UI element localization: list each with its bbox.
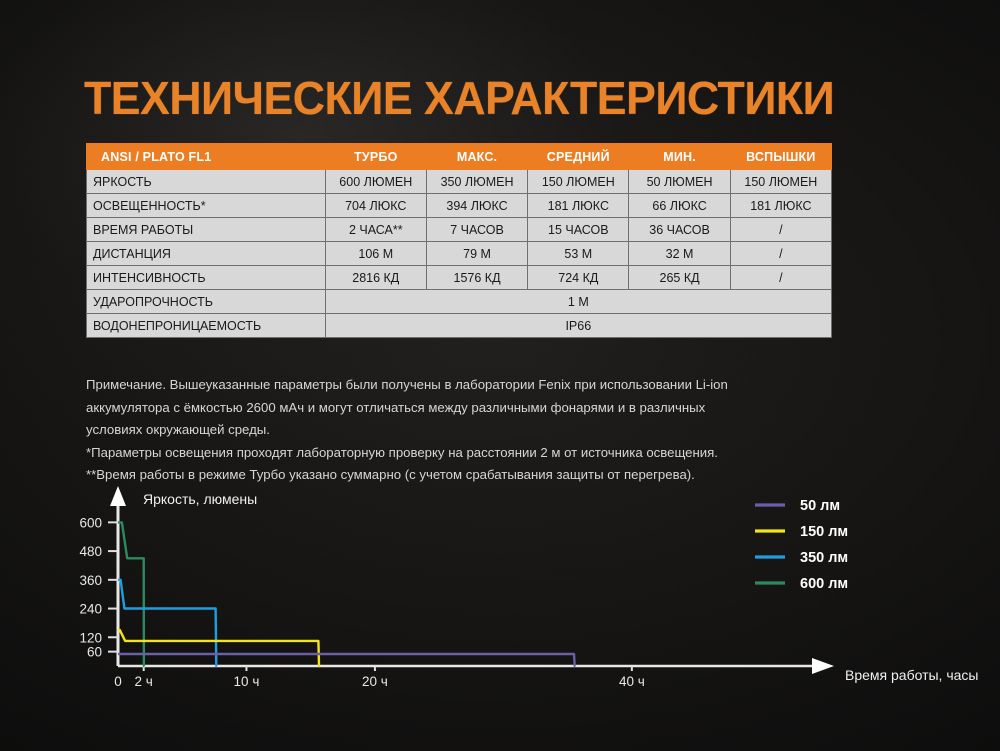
table-row: ДИСТАНЦИЯ106 М79 М53 М32 М/	[87, 242, 832, 266]
table-row-label: ИНТЕНСИВНОСТЬ	[87, 266, 326, 290]
table-cell: 265 КД	[629, 266, 730, 290]
x-axis-tick-label: 0	[114, 674, 122, 689]
y-axis-title: Яркость, люмены	[143, 491, 257, 507]
table-cell: 600 ЛЮМЕН	[325, 170, 426, 194]
table-row-label: ВРЕМЯ РАБОТЫ	[87, 218, 326, 242]
table-row-label: ЯРКОСТЬ	[87, 170, 326, 194]
legend-label: 50 лм	[800, 498, 840, 514]
y-axis-tick-label: 480	[79, 544, 102, 559]
table-cell: 36 ЧАСОВ	[629, 218, 730, 242]
y-axis-ticks: 60120240360480600	[79, 515, 118, 659]
legend-label: 150 лм	[800, 524, 848, 540]
table-header-cell: ВСПЫШКИ	[730, 144, 831, 170]
x-axis-tick-label: 20 ч	[362, 674, 388, 689]
table-row-merged: УДАРОПРОЧНОСТЬ1 М	[87, 290, 832, 314]
table-cell: 50 ЛЮМЕН	[629, 170, 730, 194]
table-header-row: ANSI / PLATO FL1ТУРБОМАКС.СРЕДНИЙМИН.ВСП…	[87, 144, 832, 170]
table-header-cell: МАКС.	[426, 144, 527, 170]
table-cell: 7 ЧАСОВ	[426, 218, 527, 242]
table-cell: 394 ЛЮКС	[426, 194, 527, 218]
table-cell: /	[730, 266, 831, 290]
footnote-line: Примечание. Вышеуказанные параметры были…	[86, 374, 896, 397]
page-title: ТЕХНИЧЕСКИЕ ХАРАКТЕРИСТИКИ	[84, 72, 834, 124]
x-axis-tick-label: 2 ч	[135, 674, 153, 689]
table-row-merged: ВОДОНЕПРОНИЦАЕМОСТЬIP66	[87, 314, 832, 338]
table-row: ЯРКОСТЬ600 ЛЮМЕН350 ЛЮМЕН150 ЛЮМЕН50 ЛЮМ…	[87, 170, 832, 194]
table-header-cell: МИН.	[629, 144, 730, 170]
table-header-cell: ANSI / PLATO FL1	[87, 144, 326, 170]
chart-legend: 50 лм150 лм350 лм600 лм	[755, 498, 848, 592]
table-cell: 15 ЧАСОВ	[528, 218, 629, 242]
x-axis-tick-label: 40 ч	[619, 674, 645, 689]
footnote-line: условиях окружающей среды.	[86, 419, 896, 442]
chart-series	[118, 522, 575, 666]
table-row-label: ОСВЕЩЕННОСТЬ*	[87, 194, 326, 218]
table-cell: /	[730, 242, 831, 266]
footnote-block: Примечание. Вышеуказанные параметры были…	[86, 374, 896, 487]
table-cell: 724 КД	[528, 266, 629, 290]
table-row-label: УДАРОПРОЧНОСТЬ	[87, 290, 326, 314]
chart-svg: 60120240360480600 02 ч10 ч20 ч40 ч Яркос…	[0, 480, 1000, 710]
table-row: ОСВЕЩЕННОСТЬ*704 ЛЮКС394 ЛЮКС181 ЛЮКС66 …	[87, 194, 832, 218]
runtime-chart: 60120240360480600 02 ч10 ч20 ч40 ч Яркос…	[0, 480, 1000, 710]
legend-label: 350 лм	[800, 550, 848, 566]
table-cell: 2816 КД	[325, 266, 426, 290]
table-row-label: ВОДОНЕПРОНИЦАЕМОСТЬ	[87, 314, 326, 338]
table-row: ИНТЕНСИВНОСТЬ2816 КД1576 КД724 КД265 КД/	[87, 266, 832, 290]
chart-axes	[110, 486, 834, 674]
table-cell: 53 М	[528, 242, 629, 266]
table-cell-merged: IP66	[325, 314, 831, 338]
table-cell: 181 ЛЮКС	[528, 194, 629, 218]
chart-line-150-лм	[118, 630, 320, 666]
x-axis-ticks: 02 ч10 ч20 ч40 ч	[114, 666, 645, 689]
table-cell: 66 ЛЮКС	[629, 194, 730, 218]
y-axis-tick-label: 60	[87, 645, 102, 660]
legend-label: 600 лм	[800, 576, 848, 592]
table-cell-merged: 1 М	[325, 290, 831, 314]
table-cell: 2 ЧАСА**	[325, 218, 426, 242]
chart-line-50-лм	[118, 654, 575, 666]
table-cell: 181 ЛЮКС	[730, 194, 831, 218]
table-cell: 106 М	[325, 242, 426, 266]
table-cell: 150 ЛЮМЕН	[730, 170, 831, 194]
y-axis-tick-label: 600	[79, 515, 102, 530]
table-row: ВРЕМЯ РАБОТЫ2 ЧАСА**7 ЧАСОВ15 ЧАСОВ36 ЧА…	[87, 218, 832, 242]
table-cell: 1576 КД	[426, 266, 527, 290]
x-axis-tick-label: 10 ч	[234, 674, 260, 689]
table-cell: 32 М	[629, 242, 730, 266]
table-cell: 350 ЛЮМЕН	[426, 170, 527, 194]
table-header-cell: СРЕДНИЙ	[528, 144, 629, 170]
table-row-label: ДИСТАНЦИЯ	[87, 242, 326, 266]
y-axis-tick-label: 360	[79, 573, 102, 588]
y-axis-tick-label: 120	[79, 630, 102, 645]
slide-page: ТЕХНИЧЕСКИЕ ХАРАКТЕРИСТИКИ ANSI / PLATO …	[0, 0, 1000, 751]
table-cell: /	[730, 218, 831, 242]
x-axis-title: Время работы, часы	[845, 667, 978, 683]
table-cell: 704 ЛЮКС	[325, 194, 426, 218]
y-axis-tick-label: 240	[79, 602, 102, 617]
specifications-table: ANSI / PLATO FL1ТУРБОМАКС.СРЕДНИЙМИН.ВСП…	[86, 143, 832, 338]
table-body: ANSI / PLATO FL1ТУРБОМАКС.СРЕДНИЙМИН.ВСП…	[87, 144, 832, 338]
footnote-line: *Параметры освещения проходят лабораторн…	[86, 442, 896, 465]
footnote-line: аккумулятора с ёмкостью 2600 мАч и могут…	[86, 397, 896, 420]
table-header-cell: ТУРБО	[325, 144, 426, 170]
table-cell: 150 ЛЮМЕН	[528, 170, 629, 194]
table-cell: 79 М	[426, 242, 527, 266]
